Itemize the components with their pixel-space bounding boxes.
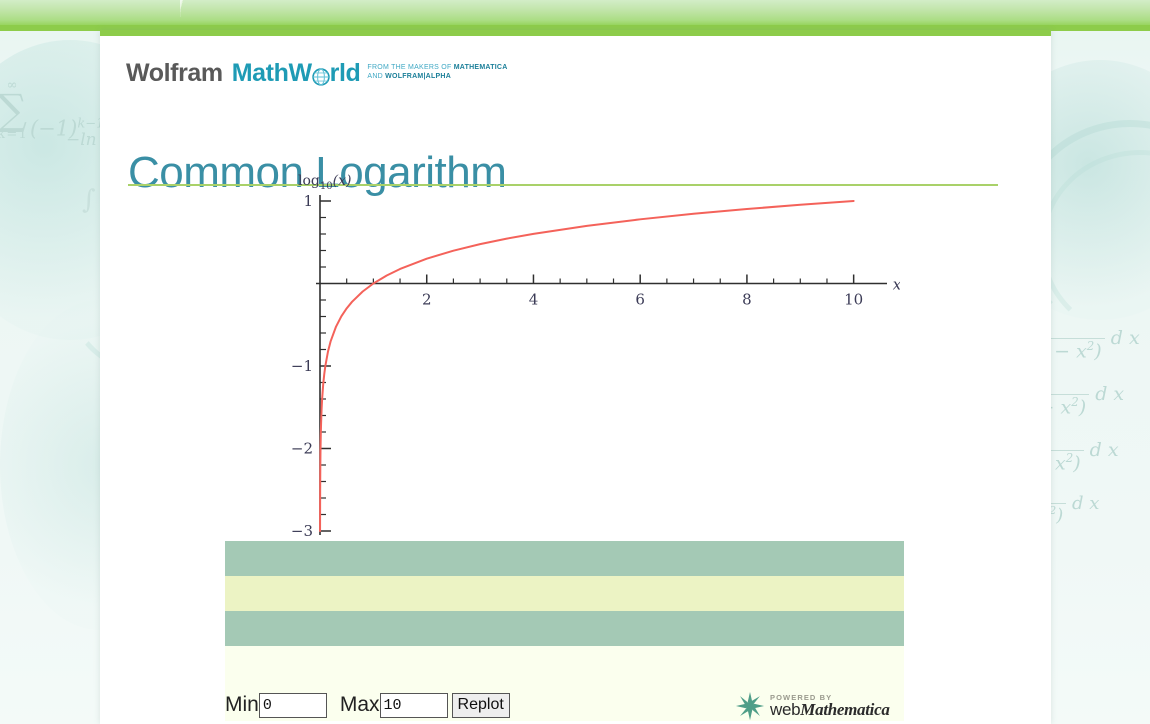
tagline-line-2: AND WOLFRAM|ALPHA (367, 73, 451, 80)
result-area: Min Max Replot (225, 541, 904, 721)
webmathematica-name: webMathematica (770, 701, 890, 718)
result-band-green-top (225, 541, 904, 576)
mathworld-logo[interactable]: Wolfram MathW rld FROM THE MAKERS OF MAT… (126, 61, 508, 86)
logo-wolfram-text: Wolfram (126, 61, 223, 86)
x-axis-label: x (893, 276, 900, 294)
result-band-green-bottom (225, 611, 904, 646)
result-band-yellow (225, 576, 904, 611)
globe-icon (312, 66, 330, 84)
logarithm-plot: 2468101−1−2−3xlog10(x) (280, 171, 900, 571)
content-panel: Wolfram MathW rld FROM THE MAKERS OF MAT… (100, 30, 1051, 724)
y-tick-label: 1 (303, 192, 313, 210)
logo-mathworld-text: MathW rld (232, 61, 361, 86)
y-tick-label: −1 (291, 357, 313, 375)
x-tick-label: 4 (529, 291, 539, 309)
mathematica-star-icon (735, 691, 765, 721)
logo-mathw-text: MathW (232, 61, 312, 86)
log-curve (320, 201, 854, 531)
min-label: Min (225, 693, 259, 717)
webmathematica-logo: POWERED BY webMathematica (735, 689, 915, 723)
x-tick-label: 6 (635, 291, 645, 309)
background-formula-arc: ∫ (82, 185, 96, 215)
page-background: ∞ ∑ k = 1 (−1)k−1 −ln ∫ x2 (b2 − x2) d x… (0, 0, 1150, 724)
background-formula-ln: −ln (66, 130, 97, 150)
webmathematica-wordmark: POWERED BY webMathematica (770, 694, 890, 719)
x-tick-label: 2 (422, 291, 432, 309)
logo-tagline: FROM THE MAKERS OF MATHEMATICA AND WOLFR… (367, 63, 507, 81)
y-tick-label: −2 (291, 440, 313, 458)
min-input[interactable] (259, 693, 327, 718)
max-label: Max (340, 693, 380, 717)
plot-svg: 2468101−1−2−3xlog10(x) (280, 171, 900, 571)
logo-rld-text: rld (330, 61, 361, 86)
y-tick-label: −3 (291, 522, 313, 540)
max-input[interactable] (380, 693, 448, 718)
tagline-line-1: FROM THE MAKERS OF MATHEMATICA (367, 64, 507, 71)
x-tick-label: 10 (844, 291, 863, 309)
x-tick-label: 8 (742, 291, 752, 309)
replot-button[interactable]: Replot (452, 693, 510, 718)
y-axis-label: log10(x) (298, 173, 351, 192)
